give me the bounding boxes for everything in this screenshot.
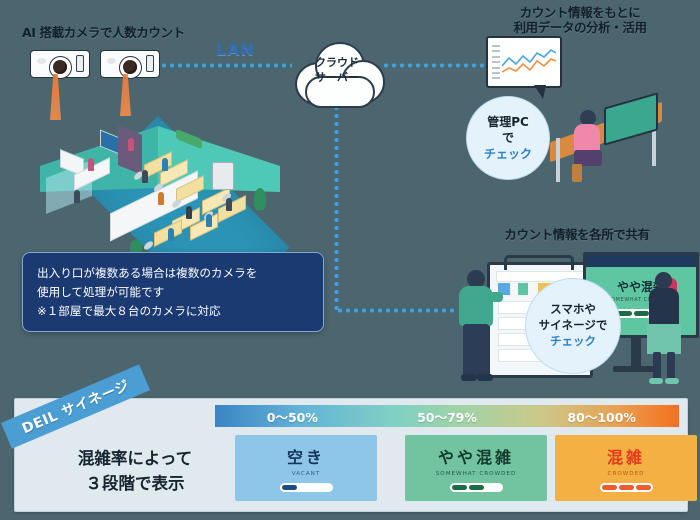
- person-head-woman: [655, 272, 672, 289]
- camera-lens: [123, 60, 137, 74]
- range-label-somewhat: 50〜79%: [370, 405, 525, 427]
- pill-empty: [299, 485, 314, 490]
- security-camera-icon: [30, 50, 88, 76]
- copier-machine: [212, 162, 234, 190]
- person-arm-man: [489, 292, 503, 302]
- heading-share-info: カウント情報を各所で共有: [487, 228, 667, 243]
- pill-filled: [282, 485, 297, 490]
- person: [206, 214, 212, 227]
- dotted-link-cloud-pc: [382, 63, 490, 68]
- person: [88, 158, 94, 171]
- callout-box: 出入り口が複数ある場合は複数のカメラを 使用して処理が可能です ※１部屋で最大８…: [22, 252, 324, 332]
- badge-share-line3: チェック: [550, 334, 596, 350]
- badge-pc-line2: で: [502, 130, 514, 146]
- ribbon-banner: DEIL サイネージ: [1, 364, 150, 448]
- badge-pc-line1: 管理PC: [487, 114, 529, 130]
- badge-share-line2: サイネージで: [539, 318, 608, 334]
- dotted-link-cloud-share: [336, 308, 458, 313]
- heading-analysis-line2: 利用データの分析・活用: [505, 21, 655, 36]
- pill-empty: [486, 485, 501, 490]
- person-body-man: [459, 286, 493, 326]
- panel-caption: 混雑率によって ３段階で表示: [55, 447, 215, 497]
- pill-empty: [316, 485, 331, 490]
- occupancy-gradient-bar: 0〜50% 50〜79% 80〜100%: [215, 405, 679, 427]
- person-shoe: [665, 378, 679, 384]
- status-card-vacant[interactable]: 空き VACANT: [235, 435, 377, 501]
- pill-filled: [634, 311, 649, 316]
- badge-manager-pc: 管理PC で チェック: [466, 96, 550, 180]
- signage-legend-panel: DEIL サイネージ 混雑率によって ３段階で表示 0〜50% 50〜79% 8…: [14, 398, 688, 512]
- person-skirt-woman: [647, 324, 681, 354]
- badge-share-line1: スマホや: [550, 302, 596, 318]
- person: [168, 228, 174, 241]
- callout-line2: 使用して処理が可能です: [37, 283, 309, 302]
- person: [128, 138, 134, 151]
- person-shoe: [461, 374, 477, 381]
- status-card-pills: [600, 483, 653, 492]
- status-card-pills: [280, 483, 333, 492]
- status-card-en: CROWDED: [608, 471, 645, 477]
- camera-side-panel: [76, 55, 84, 72]
- person-shoe: [477, 374, 493, 381]
- badge-pc-line3: チェック: [484, 146, 532, 162]
- status-card-somewhat-crowded[interactable]: やや混雑 SOMEWHAT CROWDED: [405, 435, 547, 501]
- status-card-pills: [450, 483, 503, 492]
- dotted-link-cloud-down: [334, 104, 339, 310]
- person-shoe: [649, 378, 663, 384]
- range-label-crowded: 80〜100%: [524, 405, 679, 427]
- monitor-icon: [604, 92, 658, 145]
- manager-desk-scene: [540, 92, 690, 192]
- panel-caption-line1: 混雑率によって: [55, 447, 215, 472]
- pill-filled: [602, 485, 617, 490]
- person-leg-woman: [653, 352, 661, 380]
- cloud-server-icon: クラウド サーバー: [289, 36, 385, 108]
- cloud-label: クラウド サーバー: [289, 56, 385, 86]
- tablet-handle: [504, 255, 574, 270]
- status-card-crowded[interactable]: 混雑 CROWDED: [555, 435, 697, 501]
- status-card-jp: 混雑: [607, 444, 645, 468]
- chart-sparklines: [502, 44, 556, 78]
- callout-line3: ※１部屋で最大８台のカメラに対応: [37, 302, 309, 321]
- person: [162, 158, 168, 171]
- person: [226, 198, 232, 211]
- pill-filled: [619, 485, 634, 490]
- person-leg-woman: [667, 352, 675, 380]
- heading-data-analysis: カウント情報をもとに 利用データの分析・活用: [505, 6, 655, 36]
- status-card-en: VACANT: [292, 471, 321, 477]
- signage-stand: [631, 338, 641, 368]
- cloud-label-line1: クラウド: [289, 56, 385, 71]
- person: [186, 206, 192, 219]
- pill-filled: [636, 485, 651, 490]
- person: [158, 192, 164, 205]
- heading-camera-count: AI 搭載カメラで人数カウント: [22, 26, 185, 41]
- camera-side-panel: [146, 55, 154, 72]
- status-card-jp: やや混雑: [438, 444, 514, 468]
- chart-yaxis-ticks: [492, 45, 500, 77]
- person-body-woman: [649, 288, 679, 326]
- office-floorplan-illustration: [26, 108, 290, 268]
- range-label-vacant: 0〜50%: [215, 405, 370, 427]
- lan-label: LAN: [216, 40, 255, 59]
- status-card-en: SOMEWHAT CROWDED: [436, 471, 517, 477]
- camera-lens: [53, 60, 67, 74]
- person-legs-man: [463, 324, 489, 376]
- tablet-icon-green: [518, 283, 528, 295]
- status-card-jp: 空き: [287, 444, 325, 468]
- panel-caption-line2: ３段階で表示: [55, 472, 215, 497]
- analytics-chart-popup: [486, 36, 562, 88]
- person: [74, 190, 80, 203]
- signage-header-bar: [586, 255, 696, 267]
- potted-plant-2: [254, 188, 266, 210]
- pill-filled: [469, 485, 484, 490]
- pill-filled: [452, 485, 467, 490]
- badge-smartphone-signage: スマホや サイネージで チェック: [525, 278, 621, 374]
- infographic-canvas: AI 搭載カメラで人数カウント カウント情報をもとに 利用データの分析・活用 カ…: [0, 0, 700, 520]
- desk-leg: [556, 138, 560, 182]
- heading-analysis-line1: カウント情報をもとに: [505, 6, 655, 21]
- person: [142, 170, 148, 183]
- callout-line1: 出入り口が複数ある場合は複数のカメラを: [37, 264, 309, 283]
- security-camera-icon-2: [100, 50, 158, 76]
- cloud-label-line2: サーバー: [289, 71, 385, 86]
- office-chair-back: [572, 164, 582, 182]
- dotted-link-camera-cloud: [160, 63, 292, 68]
